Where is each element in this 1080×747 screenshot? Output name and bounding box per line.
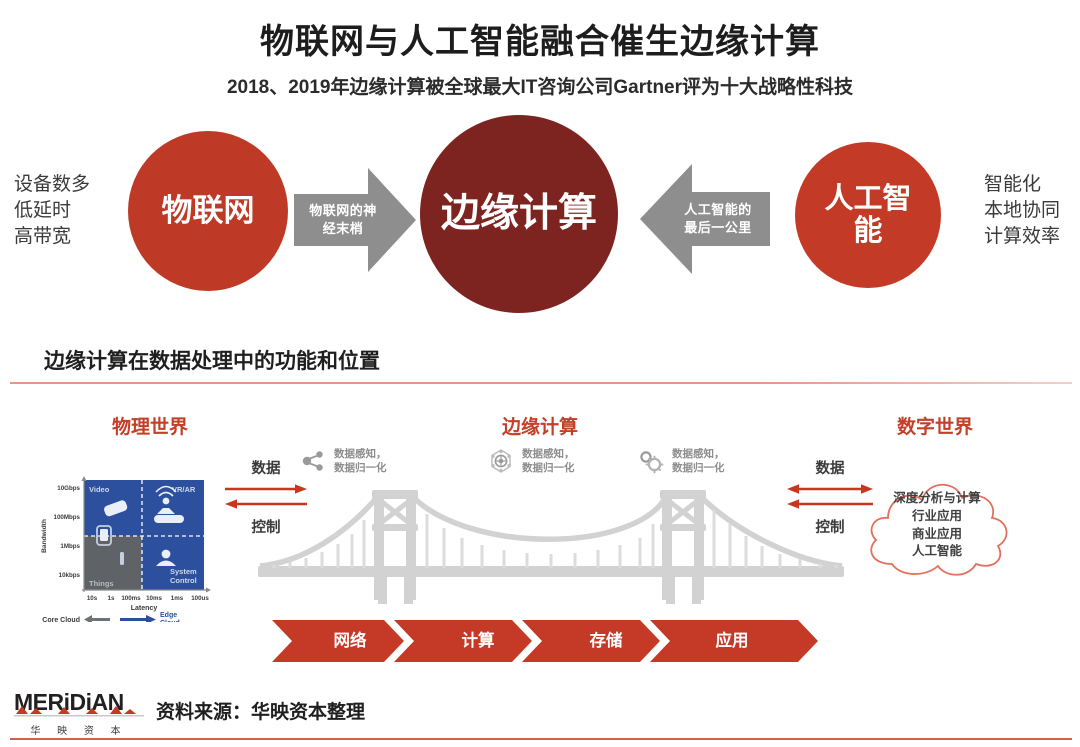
- gear-hex-icon: [488, 448, 514, 474]
- cloud-text: 深度分析与计算 行业应用 商业应用 人工智能: [862, 490, 1012, 561]
- source-note: 资料来源：华映资本整理: [156, 697, 365, 724]
- arrow-bidirectional-icon: [787, 482, 873, 512]
- circle-ai: 人工智能: [795, 142, 941, 288]
- svg-text:100ms: 100ms: [121, 595, 141, 602]
- bridge-illustration: [252, 480, 850, 604]
- svg-text:10Gbps: 10Gbps: [57, 485, 80, 492]
- bandwidth-latency-chart: 10Gbps 100Mbps 1Mbps 10kbps 10s 1s 100ms…: [32, 474, 214, 622]
- process-step-0: 网络: [290, 620, 410, 662]
- svg-text:Core Cloud: Core Cloud: [42, 617, 80, 622]
- circle-edge-computing: 边缘计算: [420, 115, 618, 313]
- process-step-3: 应用: [672, 620, 792, 662]
- arrow-iot-to-edge-label: 物联网的神 经末梢: [294, 168, 416, 272]
- svg-text:10ms: 10ms: [146, 595, 162, 602]
- arrow-ai-to-edge-label: 人工智能的 最后一公里: [640, 164, 770, 274]
- svg-text:1s: 1s: [108, 595, 115, 602]
- edge-function-3: 数据感知， 数据归一化: [638, 447, 725, 475]
- svg-text:10kbps: 10kbps: [59, 572, 81, 579]
- slide-canvas: 物联网与人工智能融合催生边缘计算 2018、2019年边缘计算被全球最大IT咨询…: [0, 0, 1080, 747]
- svg-text:MERiDiAN: MERiDiAN: [14, 689, 124, 715]
- svg-text:Bandwidth: Bandwidth: [41, 519, 48, 553]
- svg-text:VR/AR: VR/AR: [172, 485, 196, 494]
- arrow-ai-to-edge: 人工智能的 最后一公里: [640, 164, 770, 274]
- column-heading-physical-world: 物理世界: [60, 412, 240, 439]
- flow-left-data-label: 数据: [218, 457, 314, 478]
- page-subtitle: 2018、2019年边缘计算被全球最大IT咨询公司Gartner评为十大战略性科…: [0, 72, 1080, 99]
- process-step-2: 存储: [546, 620, 666, 662]
- edge-function-2: 数据感知， 数据归一化: [488, 447, 575, 475]
- footer-rule: [10, 738, 1072, 740]
- svg-text:Edge: Edge: [160, 612, 177, 619]
- logo-subtext: 华 映 资 本: [14, 722, 144, 737]
- column-heading-digital-world: 数字世界: [845, 412, 1025, 439]
- svg-text:100Mbps: 100Mbps: [54, 514, 81, 521]
- svg-text:Video: Video: [89, 485, 110, 494]
- flow-left-control-label: 控制: [218, 516, 314, 537]
- right-attributes-note: 智能化 本地协同 计算效率: [984, 172, 1060, 251]
- column-heading-edge-computing: 边缘计算: [470, 412, 610, 439]
- svg-text:Things: Things: [89, 579, 114, 588]
- left-attributes-note: 设备数多 低延时 高带宽: [14, 172, 90, 251]
- edge-function-2-label: 数据感知， 数据归一化: [522, 447, 575, 475]
- page-title: 物联网与人工智能融合催生边缘计算: [0, 14, 1080, 63]
- section-divider: [10, 382, 1072, 384]
- svg-text:Latency: Latency: [131, 605, 158, 612]
- process-step-1: 计算: [418, 620, 538, 662]
- svg-text:100us: 100us: [191, 595, 209, 602]
- flow-arrows-left: 数据 控制: [218, 457, 314, 537]
- edge-function-3-label: 数据感知， 数据归一化: [672, 447, 725, 475]
- circle-iot: 物联网: [128, 131, 288, 291]
- svg-text:1ms: 1ms: [171, 595, 184, 602]
- arrow-right-icon: [223, 482, 309, 512]
- edge-function-1-label: 数据感知， 数据归一化: [334, 447, 387, 475]
- svg-text:Cloud: Cloud: [160, 620, 180, 622]
- gears-icon: [638, 448, 664, 474]
- svg-text:1Mbps: 1Mbps: [60, 543, 80, 550]
- section-title: 边缘计算在数据处理中的功能和位置: [44, 345, 380, 375]
- svg-text:System: System: [170, 567, 197, 576]
- svg-text:Control: Control: [170, 576, 197, 585]
- arrow-iot-to-edge: 物联网的神 经末梢: [294, 168, 416, 272]
- svg-text:10s: 10s: [87, 595, 98, 602]
